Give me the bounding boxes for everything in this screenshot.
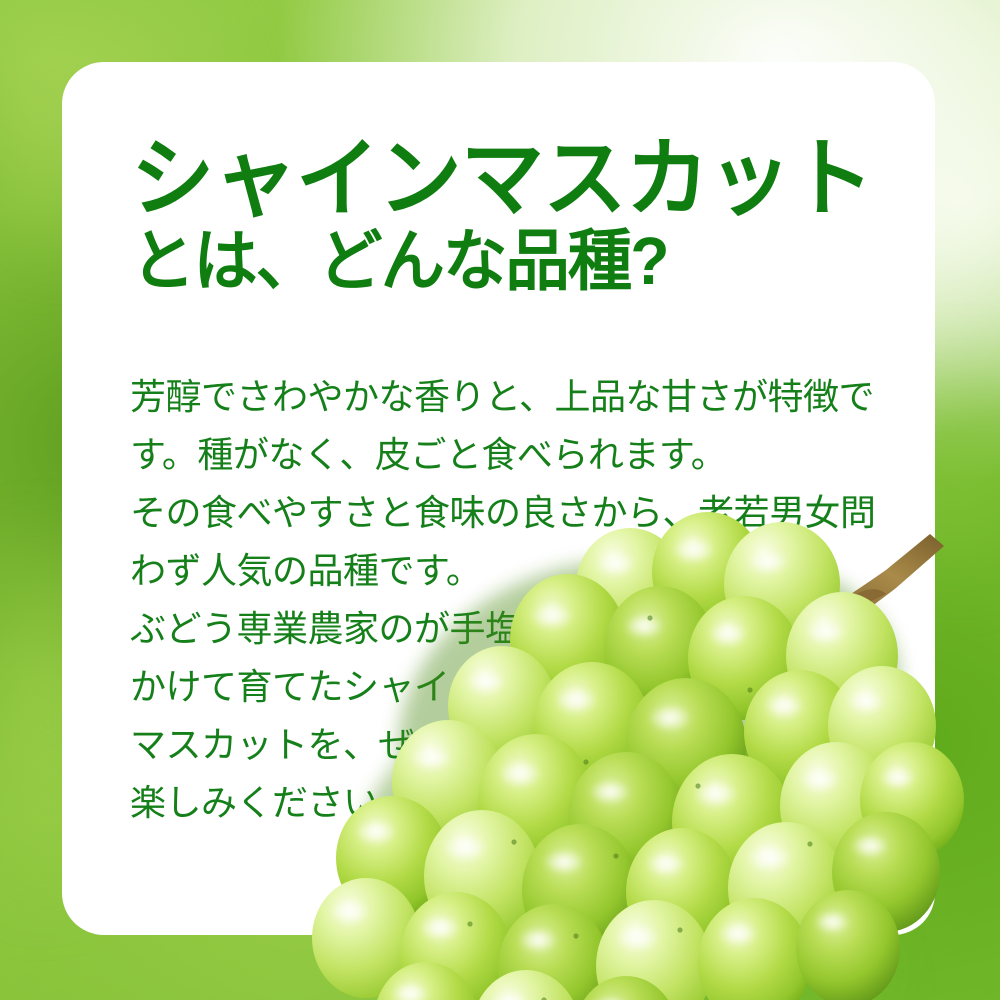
body-line: マスカットを、ぜひ bbox=[130, 716, 920, 774]
body-line: ぶどう専業農家のが手塩に bbox=[130, 600, 920, 658]
body-line: 楽しみください。 bbox=[130, 774, 920, 832]
body-line: その食べやすさと食味の良さから、老若男女問 bbox=[130, 484, 920, 542]
body-line: 芳醇でさわやかな香りと、上品な甘さが特徴で bbox=[130, 368, 920, 426]
body-line: す。種がなく、皮ごと食べられます。 bbox=[130, 426, 920, 484]
title-line-1: シャインマスカット bbox=[131, 138, 907, 221]
body-copy: 芳醇でさわやかな香りと、上品な甘さが特徴で す。種がなく、皮ごと食べられます。 … bbox=[130, 368, 920, 832]
title-line-2: とは、どんな品種? bbox=[131, 227, 899, 297]
page-title: シャインマスカット とは、どんな品種? bbox=[131, 138, 931, 297]
promo-poster: シャインマスカット とは、どんな品種? 芳醇でさわやかな香りと、上品な甘さが特徴… bbox=[0, 0, 1000, 1000]
body-line: わず人気の品種です。 bbox=[130, 542, 920, 600]
body-line: かけて育てたシャイン bbox=[130, 658, 920, 716]
